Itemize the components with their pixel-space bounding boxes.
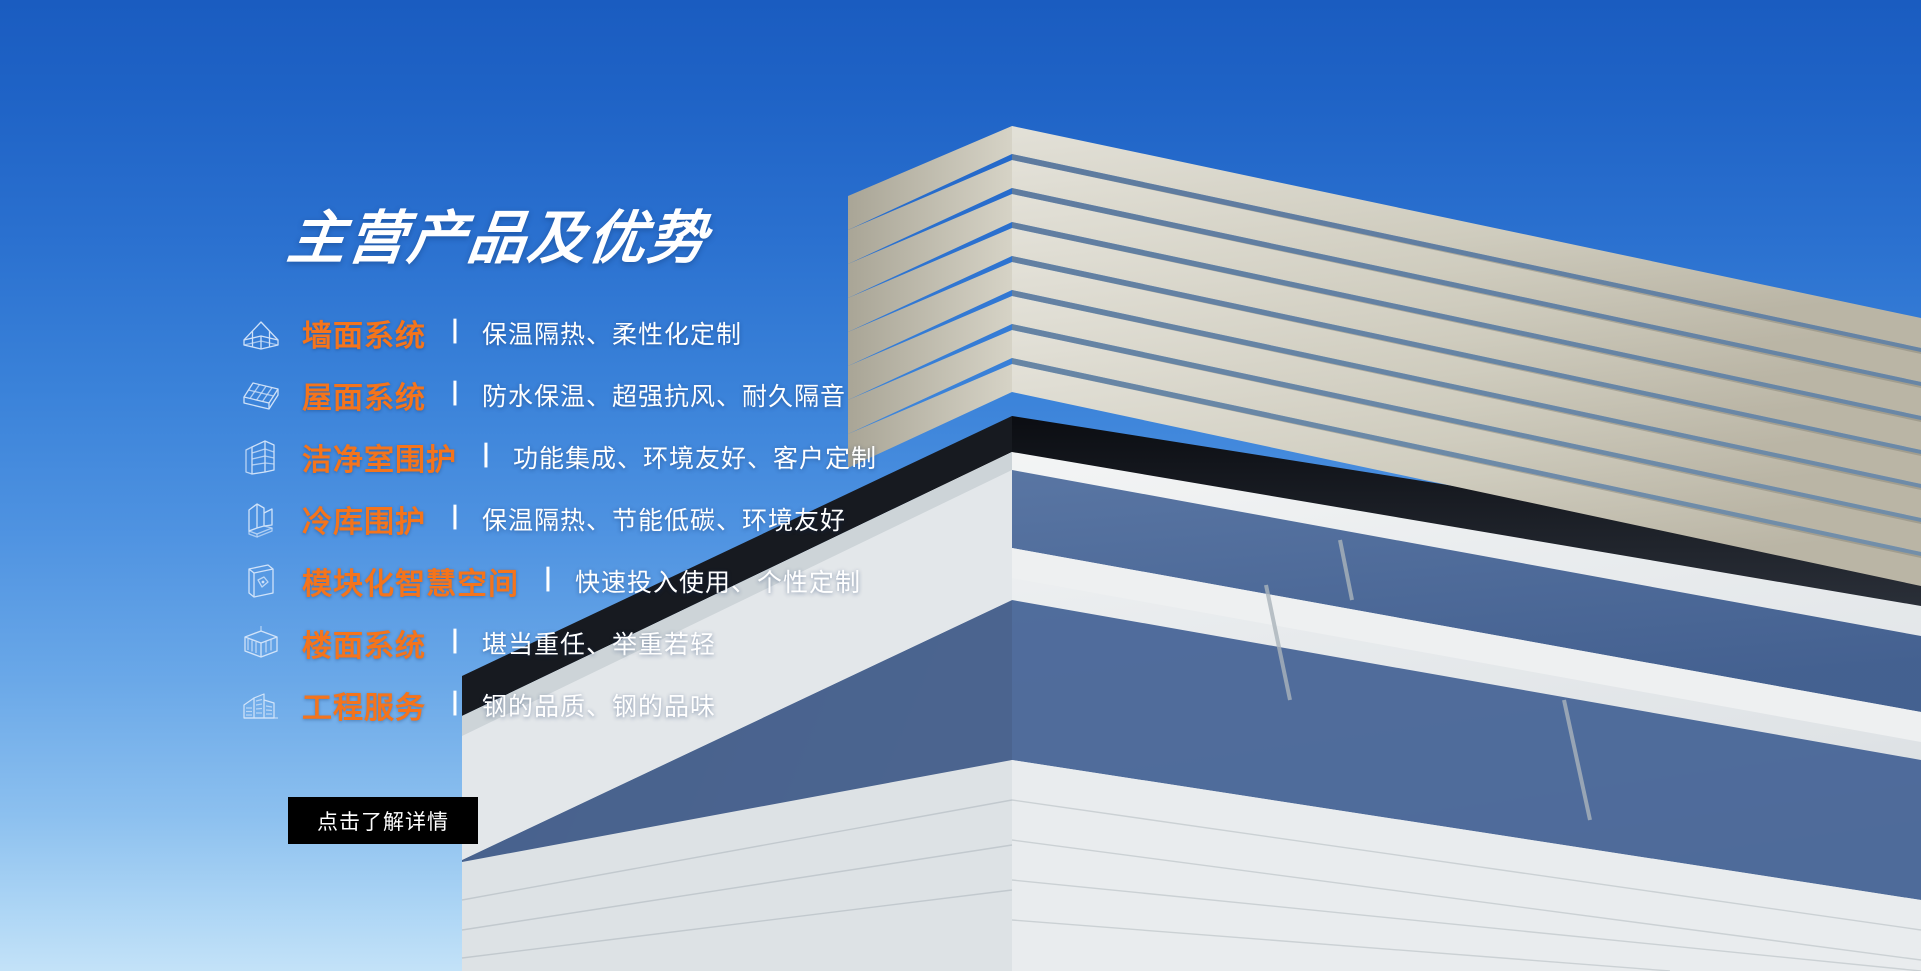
feature-name: 冷库围护: [302, 497, 426, 541]
feature-separator: 丨: [442, 381, 468, 407]
feature-separator: 丨: [473, 443, 499, 469]
cleanroom-envelope-icon: [238, 435, 284, 479]
hero-banner: 主营产品及优势 墙面系统 丨 保温隔热、柔性化定制: [0, 0, 1921, 971]
feature-row-cold-storage-envelope[interactable]: 冷库围护 丨 保温隔热、节能低碳、环境友好: [288, 491, 1068, 547]
feature-row-wall-system[interactable]: 墙面系统 丨 保温隔热、柔性化定制: [288, 305, 1068, 361]
learn-more-button[interactable]: 点击了解详情: [288, 797, 478, 844]
feature-description: 钢的品质、钢的品味: [482, 687, 716, 723]
feature-row-floor-system[interactable]: 楼面系统 丨 堪当重任、举重若轻: [288, 615, 1068, 671]
feature-separator: 丨: [442, 505, 468, 531]
feature-description: 堪当重任、举重若轻: [482, 625, 716, 661]
feature-description: 功能集成、环境友好、客户定制: [513, 439, 877, 475]
feature-name: 工程服务: [302, 683, 426, 727]
engineering-service-icon: [238, 683, 284, 727]
feature-row-engineering-service[interactable]: 工程服务 丨 钢的品质、钢的品味: [288, 677, 1068, 733]
feature-name: 模块化智慧空间: [302, 559, 519, 603]
feature-name: 洁净室围护: [302, 435, 457, 479]
feature-separator: 丨: [442, 319, 468, 345]
wall-system-icon: [238, 311, 284, 355]
modular-smart-space-icon: [238, 559, 284, 603]
page-title: 主营产品及优势: [284, 210, 711, 268]
feature-row-roof-system[interactable]: 屋面系统 丨 防水保温、超强抗风、耐久隔音: [288, 367, 1068, 423]
feature-name: 楼面系统: [302, 621, 426, 665]
floor-system-icon: [238, 621, 284, 665]
cold-storage-envelope-icon: [238, 497, 284, 541]
roof-system-icon: [238, 373, 284, 417]
feature-description: 快速投入使用、个性定制: [575, 563, 861, 599]
feature-row-cleanroom-envelope[interactable]: 洁净室围护 丨 功能集成、环境友好、客户定制: [288, 429, 1068, 485]
feature-separator: 丨: [442, 629, 468, 655]
feature-separator: 丨: [442, 691, 468, 717]
feature-description: 防水保温、超强抗风、耐久隔音: [482, 377, 846, 413]
feature-description: 保温隔热、节能低碳、环境友好: [482, 501, 846, 537]
feature-description: 保温隔热、柔性化定制: [482, 315, 742, 351]
feature-row-modular-smart-space[interactable]: 模块化智慧空间 丨 快速投入使用、个性定制: [288, 553, 1068, 609]
feature-separator: 丨: [535, 567, 561, 593]
banner-content: 主营产品及优势 墙面系统 丨 保温隔热、柔性化定制: [0, 0, 900, 971]
product-feature-list: 墙面系统 丨 保温隔热、柔性化定制 屋面系统: [288, 305, 1068, 739]
feature-name: 墙面系统: [302, 311, 426, 355]
feature-name: 屋面系统: [302, 373, 426, 417]
